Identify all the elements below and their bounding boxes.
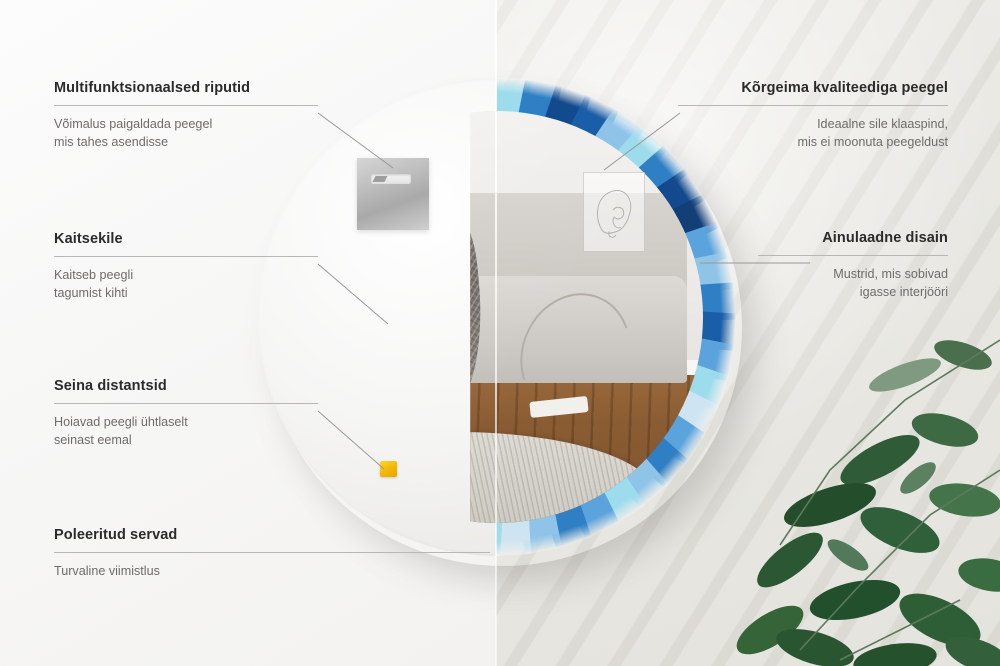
callout-multifunctional-hangers: Multifunktsionaalsed riputid Võimalus pa… <box>54 80 318 152</box>
callout-description: Turvaline viimistlus <box>54 563 490 581</box>
callout-rule <box>678 105 948 106</box>
callout-rule <box>54 552 490 553</box>
wall-spacer <box>380 461 397 477</box>
hanger-slot <box>371 174 411 184</box>
callout-highest-quality-mirror: Kõrgeima kvaliteediga peegel Ideaalne si… <box>678 80 948 152</box>
mirror-product <box>258 78 736 556</box>
callout-description: Kaitseb peegli tagumist kihti <box>54 267 318 303</box>
wall-art-frame <box>583 172 645 252</box>
callout-title: Poleeritud servad <box>54 527 490 543</box>
callout-rule <box>54 105 318 106</box>
callout-description: Mustrid, mis sobivad igasse interjööri <box>758 266 948 302</box>
callout-title: Seina distantsid <box>54 378 318 394</box>
line-art-face-icon <box>584 173 644 251</box>
callout-description: Võimalus paigaldada peegel mis tahes ase… <box>54 116 318 152</box>
callout-protective-film: Kaitsekile Kaitseb peegli tagumist kihti <box>54 231 318 303</box>
panel-divider <box>495 0 497 666</box>
callout-title: Ainulaadne disain <box>758 230 948 246</box>
infographic-stage: Multifunktsionaalsed riputid Võimalus pa… <box>0 0 1000 666</box>
callout-rule <box>54 403 318 404</box>
callout-title: Kaitsekile <box>54 231 318 247</box>
callout-unique-design: Ainulaadne disain Mustrid, mis sobivad i… <box>758 230 948 302</box>
callout-title: Multifunktsionaalsed riputid <box>54 80 318 96</box>
callout-title: Kõrgeima kvaliteediga peegel <box>678 80 948 96</box>
callout-polished-edges: Poleeritud servad Turvaline viimistlus <box>54 527 490 581</box>
callout-description: Ideaalne sile klaaspind, mis ei moonuta … <box>678 116 948 152</box>
callout-rule <box>758 255 948 256</box>
callout-rule <box>54 256 318 257</box>
callout-description: Hoiavad peegli ühtlaselt seinast eemal <box>54 414 318 450</box>
hanger-plate <box>357 158 429 230</box>
callout-wall-spacers: Seina distantsid Hoiavad peegli ühtlasel… <box>54 378 318 450</box>
